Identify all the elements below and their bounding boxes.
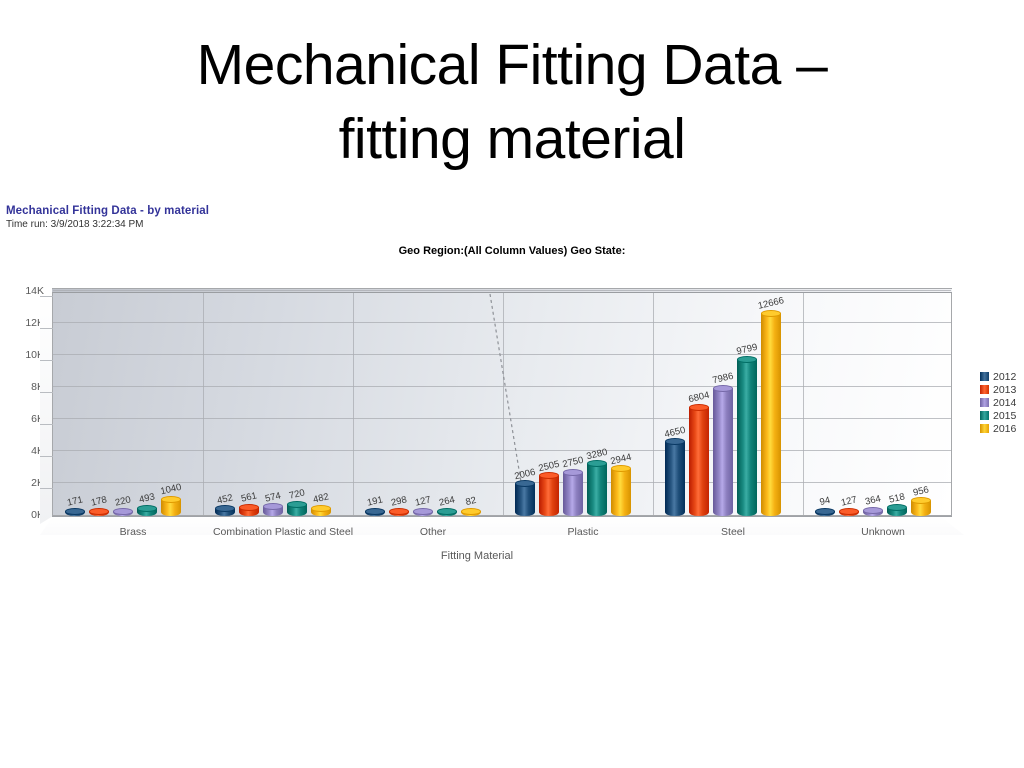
legend-item[interactable]: 2014 <box>980 396 1016 409</box>
bar[interactable]: 94 <box>815 511 835 516</box>
x-axis-categories: BrassCombination Plastic and SteelOtherP… <box>52 526 976 542</box>
page-title-line-1: Mechanical Fitting Data – <box>197 33 828 97</box>
bar-value-label: 9799 <box>735 342 758 357</box>
bar-value-label: 220 <box>114 494 132 508</box>
bar-body <box>611 469 631 516</box>
bar-group: 452561574720482 <box>215 292 331 516</box>
x-axis-tick-label: Brass <box>120 526 147 538</box>
gridline <box>53 290 951 291</box>
wall-gridline <box>40 424 53 425</box>
bar-body <box>587 464 607 516</box>
bar[interactable]: 518 <box>887 508 907 516</box>
bar-body <box>665 442 685 516</box>
bar-value-label: 452 <box>216 492 234 506</box>
report-header: Mechanical Fitting Data - by material Ti… <box>6 205 209 230</box>
x-axis-tick-label: Plastic <box>568 526 599 538</box>
bar-value-label: 171 <box>66 494 84 508</box>
bar-value-label: 518 <box>888 491 906 505</box>
bar[interactable]: 493 <box>137 508 157 516</box>
y-axis-tick: 14K <box>4 285 44 297</box>
wall-gridline <box>40 392 53 393</box>
bar-value-label: 561 <box>240 490 258 504</box>
bar[interactable]: 6804 <box>689 407 709 516</box>
legend-item[interactable]: 2012 <box>980 370 1016 383</box>
bar-body <box>563 472 583 516</box>
bar-top-ellipse <box>815 508 835 515</box>
bar-value-label: 7986 <box>711 371 734 386</box>
bar-value-label: 956 <box>912 484 930 498</box>
bar-group: 1711782204931040 <box>65 292 181 516</box>
bar[interactable]: 264 <box>437 511 457 516</box>
bar-value-label: 2505 <box>537 459 560 474</box>
bar[interactable]: 171 <box>65 511 85 516</box>
bar-value-label: 94 <box>819 495 832 508</box>
bar[interactable]: 574 <box>263 507 283 516</box>
bar-value-label: 3280 <box>585 446 608 461</box>
bar-value-label: 2750 <box>561 455 584 470</box>
bar[interactable]: 1040 <box>161 499 181 516</box>
y-axis-tick: 6K <box>4 413 44 425</box>
bar-value-label: 364 <box>864 494 882 508</box>
wall-gridline <box>40 456 53 457</box>
y-axis-tick: 10K <box>4 349 44 361</box>
wall-gridline <box>40 328 53 329</box>
bar[interactable]: 191 <box>365 511 385 516</box>
bar[interactable]: 4650 <box>665 442 685 516</box>
bar-top-ellipse <box>161 496 181 503</box>
x-axis-title: Fitting Material <box>0 550 1024 562</box>
bar[interactable]: 9799 <box>737 359 757 516</box>
page-title: Mechanical Fitting Data – fitting materi… <box>0 28 1024 176</box>
bar-top-ellipse <box>461 508 481 515</box>
wall-gridline <box>40 488 53 489</box>
bar[interactable]: 12666 <box>761 313 781 516</box>
x-axis-tick-label: Steel <box>721 526 745 538</box>
bar[interactable]: 178 <box>89 511 109 516</box>
bar[interactable]: 7986 <box>713 388 733 516</box>
legend-label: 2013 <box>993 384 1016 396</box>
bar-body <box>737 359 757 516</box>
legend-item[interactable]: 2015 <box>980 409 1016 422</box>
bar[interactable]: 127 <box>839 511 859 516</box>
bars-layer: 1711782204931040452561574720482191298127… <box>52 292 952 516</box>
bar[interactable]: 482 <box>311 508 331 516</box>
bar-value-label: 574 <box>264 490 282 504</box>
y-axis-tick: 12K <box>4 317 44 329</box>
bar[interactable]: 298 <box>389 511 409 516</box>
bar-body <box>713 388 733 516</box>
bar[interactable]: 220 <box>113 511 133 516</box>
legend-color-swatch <box>980 385 989 394</box>
bar[interactable]: 3280 <box>587 464 607 516</box>
wall-gridline <box>40 360 53 361</box>
bar-body <box>515 484 535 516</box>
bar[interactable]: 956 <box>911 501 931 516</box>
report-timestamp: Time run: 3/9/2018 3:22:34 PM <box>6 219 209 230</box>
legend-item[interactable]: 2013 <box>980 383 1016 396</box>
bar-value-label: 6804 <box>687 390 710 405</box>
bar-value-label: 298 <box>390 494 408 508</box>
bar-value-label: 264 <box>438 494 456 508</box>
legend-color-swatch <box>980 398 989 407</box>
legend-label: 2014 <box>993 397 1016 409</box>
chart-subtitle: Geo Region:(All Column Values) Geo State… <box>0 245 1024 257</box>
legend-item[interactable]: 2016 <box>980 422 1016 435</box>
bar-value-label: 191 <box>366 494 384 508</box>
report-title: Mechanical Fitting Data - by material <box>6 205 209 217</box>
bar-value-label: 178 <box>90 494 108 508</box>
bar-body <box>689 407 709 516</box>
bar-group: 19129812726482 <box>365 292 481 516</box>
bar-top-ellipse <box>287 501 307 508</box>
bar[interactable]: 2006 <box>515 484 535 516</box>
bar-value-label: 4650 <box>663 424 686 439</box>
bar[interactable]: 720 <box>287 504 307 516</box>
x-axis-tick-label: Combination Plastic and Steel <box>213 526 353 538</box>
bar-group: 94127364518956 <box>815 292 931 516</box>
legend-label: 2012 <box>993 371 1016 383</box>
y-axis-tick: 0K <box>4 509 44 521</box>
y-axis-tick: 4K <box>4 445 44 457</box>
bar[interactable]: 2944 <box>611 469 631 516</box>
wall-gridline <box>40 296 53 297</box>
bar-value-label: 127 <box>840 494 858 508</box>
bar-value-label: 2006 <box>513 467 536 482</box>
chart-legend: 20122013201420152016 <box>980 370 1016 435</box>
bar[interactable]: 561 <box>239 507 259 516</box>
legend-color-swatch <box>980 372 989 381</box>
bar[interactable]: 82 <box>461 511 481 516</box>
bar-group: 465068047986979912666 <box>665 292 781 516</box>
y-axis-tick: 2K <box>4 477 44 489</box>
bar-body <box>539 476 559 516</box>
legend-label: 2016 <box>993 423 1016 435</box>
bar-top-ellipse <box>713 385 733 392</box>
bar-top-ellipse <box>311 505 331 512</box>
bar[interactable]: 452 <box>215 509 235 516</box>
bar-body <box>761 313 781 516</box>
bar-value-label: 482 <box>312 492 330 506</box>
legend-label: 2015 <box>993 410 1016 422</box>
bar-value-label: 493 <box>138 491 156 505</box>
bar-top-ellipse <box>737 356 757 363</box>
page-title-line-2: fitting material <box>0 102 1024 176</box>
legend-color-swatch <box>980 424 989 433</box>
x-axis-tick-label: Other <box>420 526 446 538</box>
bar-top-ellipse <box>761 310 781 317</box>
bar-value-label: 2944 <box>609 452 632 467</box>
plot-floor-edge <box>52 516 952 517</box>
bar[interactable]: 364 <box>863 510 883 516</box>
bar-group: 20062505275032802944 <box>515 292 631 516</box>
bar[interactable]: 2750 <box>563 472 583 516</box>
bar[interactable]: 127 <box>413 511 433 516</box>
bar-value-label: 127 <box>414 494 432 508</box>
bar-chart: 0K2K4K6K8K10K12K14K 17117822049310404525… <box>0 288 1024 568</box>
legend-color-swatch <box>980 411 989 420</box>
y-axis: 0K2K4K6K8K10K12K14K <box>0 288 44 520</box>
bar-value-label: 720 <box>288 488 306 502</box>
bar-value-label: 82 <box>465 495 478 508</box>
x-axis-tick-label: Unknown <box>861 526 905 538</box>
y-axis-tick: 8K <box>4 381 44 393</box>
bar[interactable]: 2505 <box>539 476 559 516</box>
